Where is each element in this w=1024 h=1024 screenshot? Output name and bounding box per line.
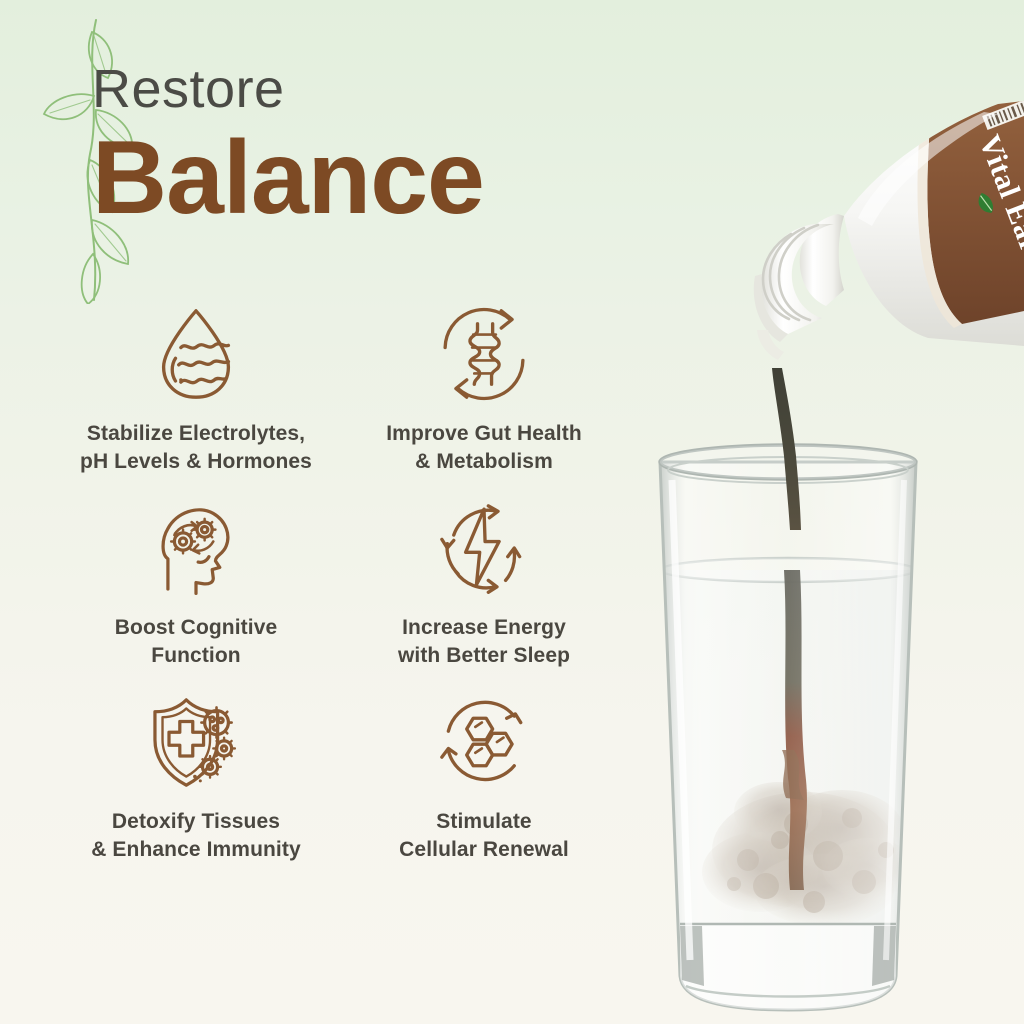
benefit-label: Increase Energy with Better Sleep bbox=[398, 614, 570, 670]
benefit-label: Improve Gut Health & Metabolism bbox=[386, 420, 582, 476]
honeycomb-cells-cycle-icon bbox=[430, 688, 538, 796]
intestines-cycle-icon bbox=[430, 300, 538, 408]
product-photo: Vital Earth bbox=[600, 90, 1024, 1024]
benefit-item-gut-health: Improve Gut Health & Metabolism bbox=[340, 300, 628, 476]
marketing-image-canvas: Restore Balance Stabilize Electrolytes, … bbox=[0, 0, 1024, 1024]
headline-line-2: Balance bbox=[92, 126, 652, 230]
benefit-item-cellular: Stimulate Cellular Renewal bbox=[340, 688, 628, 864]
headline-block: Restore Balance bbox=[92, 62, 652, 230]
water-droplet-waves-icon bbox=[142, 300, 250, 408]
benefit-label: Boost Cognitive Function bbox=[115, 614, 278, 670]
benefit-label: Stabilize Electrolytes, pH Levels & Horm… bbox=[80, 420, 312, 476]
product-bottle: Vital Earth bbox=[748, 98, 1024, 458]
head-gears-icon bbox=[142, 494, 250, 602]
benefit-item-energy: Increase Energy with Better Sleep bbox=[340, 494, 628, 670]
benefit-item-immunity: Detoxify Tissues & Enhance Immunity bbox=[52, 688, 340, 864]
benefit-item-cognitive: Boost Cognitive Function bbox=[52, 494, 340, 670]
benefits-grid: Stabilize Electrolytes, pH Levels & Horm… bbox=[52, 300, 628, 864]
drinking-glass-with-water bbox=[628, 420, 948, 1020]
shield-cross-germs-icon bbox=[142, 688, 250, 796]
lightning-bolt-cycle-icon bbox=[430, 494, 538, 602]
benefit-item-electrolytes: Stabilize Electrolytes, pH Levels & Horm… bbox=[52, 300, 340, 476]
benefit-label: Stimulate Cellular Renewal bbox=[399, 808, 569, 864]
headline-line-1: Restore bbox=[92, 62, 652, 116]
benefit-label: Detoxify Tissues & Enhance Immunity bbox=[91, 808, 301, 864]
